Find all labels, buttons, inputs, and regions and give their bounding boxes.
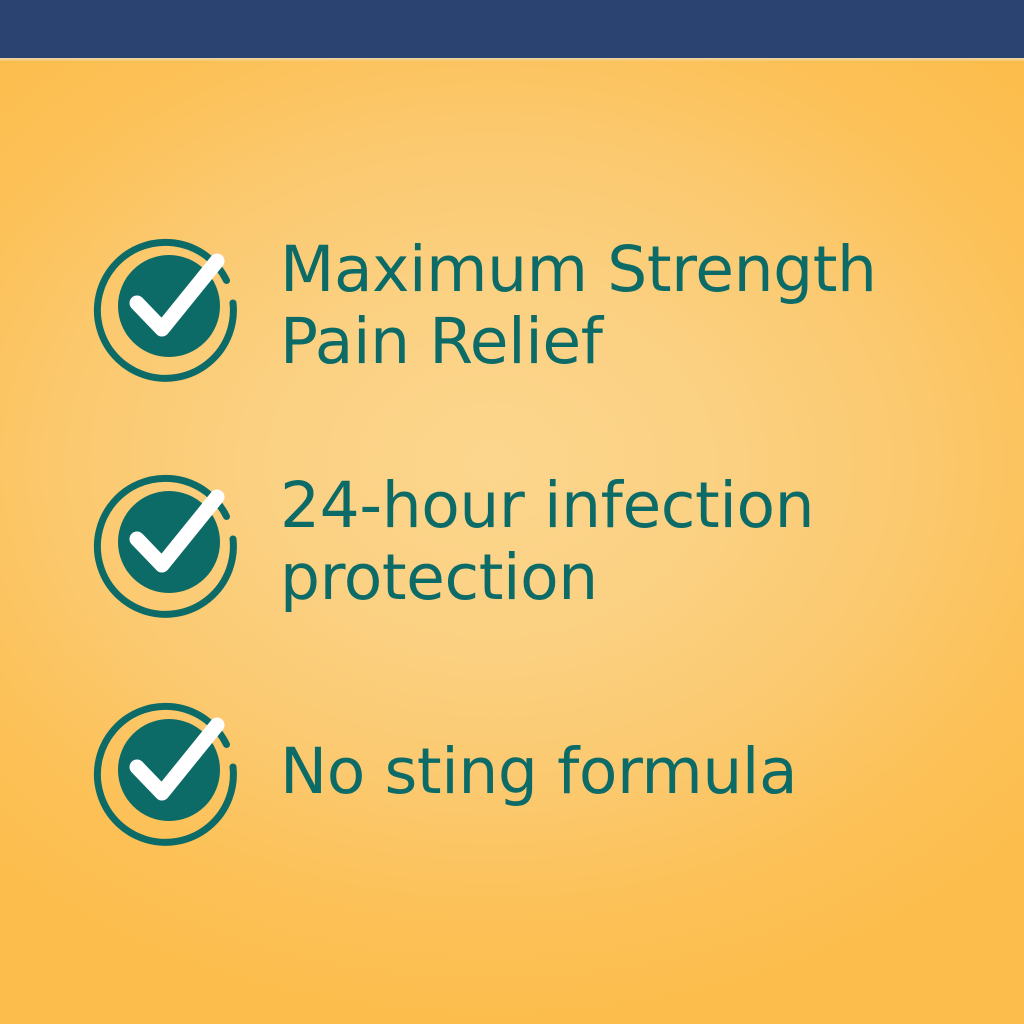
benefit-item: 24-hour infection protection [0,466,1024,618]
top-navy-band [0,0,1024,58]
check-circle-icon [93,466,245,618]
benefit-item: Maximum Strength Pain Relief [0,230,1024,382]
product-benefits-panel: Maximum Strength Pain Relief 24-hour inf… [0,0,1024,1024]
check-circle-icon [93,230,245,382]
benefit-label: No sting formula [280,694,797,808]
benefit-list: Maximum Strength Pain Relief 24-hour inf… [0,58,1024,1024]
check-circle-icon [93,694,245,846]
top-band-highlight-line [0,58,1024,61]
benefit-label: 24-hour infection protection [280,466,814,614]
benefit-label: Maximum Strength Pain Relief [280,230,877,378]
benefit-item: No sting formula [0,694,1024,846]
